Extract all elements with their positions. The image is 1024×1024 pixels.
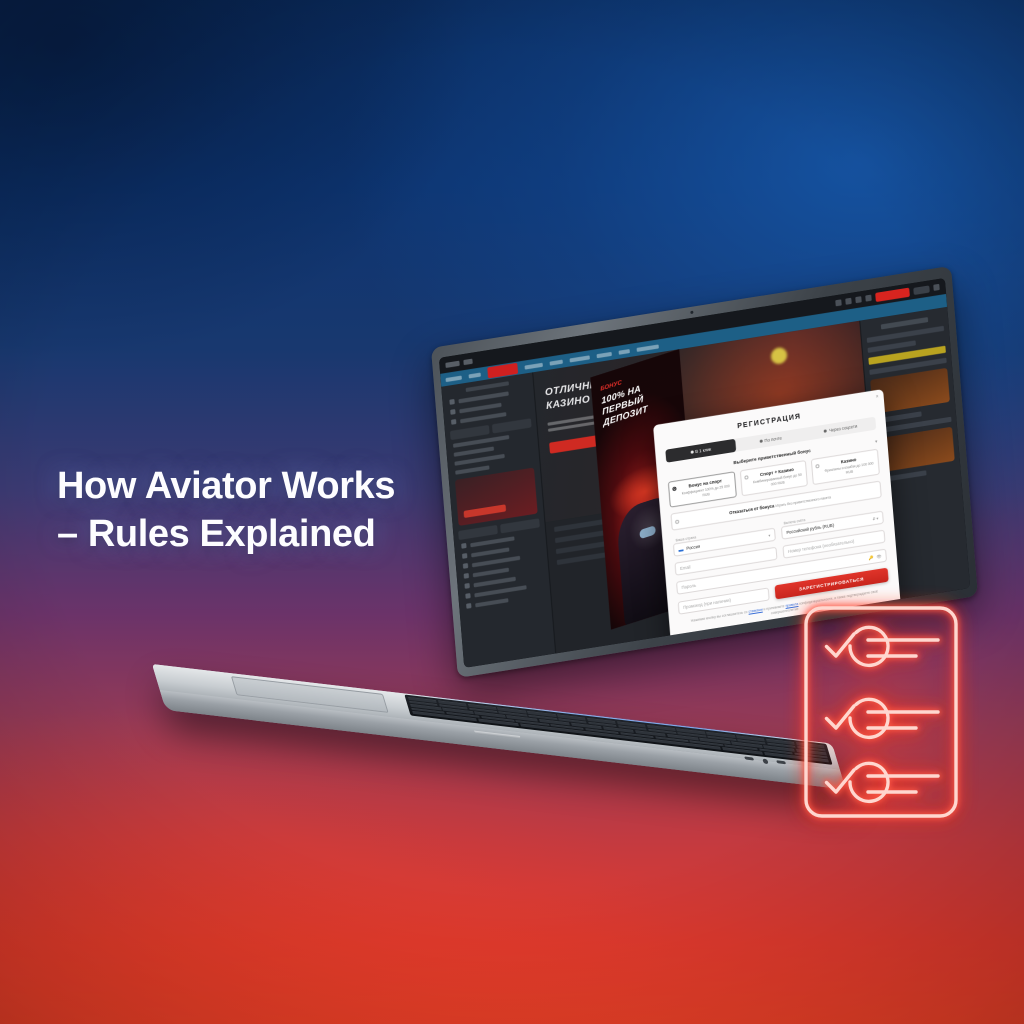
sport-icon	[449, 399, 454, 405]
promo-title: 100% НА ПЕРВЫЙ ДЕПОЗИТ	[601, 372, 677, 428]
nav-item-promos[interactable]	[570, 355, 590, 362]
bonus-option-body: Казино Фриспины и кэшбэк до 100 000 RUB	[823, 454, 876, 478]
chevron-down-icon[interactable]: ▾	[768, 533, 770, 538]
sidebar-item-label	[459, 402, 501, 413]
social-icon	[824, 429, 827, 432]
bonus-option-sport-casino[interactable]: Спорт + Казино Комбинированный бонус до …	[739, 460, 808, 497]
sidebar-section-top	[446, 378, 532, 425]
generate-key-icon[interactable]: 🔑	[868, 555, 873, 561]
hockey-icon	[464, 573, 469, 579]
nav-item-more[interactable]	[619, 349, 630, 355]
eye-icon[interactable]: 👁	[876, 554, 881, 560]
tab-label: В 1 клик	[695, 447, 711, 455]
neon-core-stroke	[806, 608, 956, 816]
tennis-icon	[462, 553, 467, 559]
laptop-base	[152, 664, 846, 790]
search-icon[interactable]	[835, 299, 841, 306]
esports-icon	[465, 593, 470, 599]
nav-item-cyber[interactable]	[550, 359, 563, 365]
sidebar-item-label	[460, 412, 506, 423]
flag-icon	[678, 547, 683, 552]
terms-link[interactable]: ставками	[748, 608, 762, 614]
decline-desc: Играть без приветственного пакета	[775, 496, 831, 509]
boxing-icon	[466, 603, 471, 609]
sidebar-item-label	[455, 465, 489, 474]
sidebar-item-label	[454, 446, 494, 456]
nav-item-casino[interactable]	[525, 362, 543, 369]
hero-glow	[770, 347, 787, 366]
sidebar-item-label	[473, 576, 515, 587]
sidebar-promo-card[interactable]	[455, 467, 538, 525]
radio-icon[interactable]	[672, 487, 676, 492]
nav-item-live[interactable]	[469, 372, 481, 378]
chevron-down-icon[interactable]: ▾	[875, 439, 877, 444]
legal-text-1: Нажимая кнопку вы соглашаетесь со	[691, 610, 749, 623]
help-icon[interactable]	[865, 295, 871, 302]
currency-value: Российский рубль (RUB)	[786, 523, 834, 536]
user-icon[interactable]	[933, 284, 939, 291]
bonus-option-body: Бонус на спорт Коэффициент 100% до 25 00…	[679, 477, 732, 501]
sidebar-item-label	[470, 536, 514, 547]
currency-chevron[interactable]: ₽ ▾	[873, 516, 879, 522]
usb-c-port-icon	[744, 756, 754, 760]
nav-item-bonuses[interactable]	[637, 344, 659, 351]
radio-icon[interactable]	[744, 475, 748, 480]
headphone-jack-icon	[762, 759, 769, 765]
close-icon[interactable]: ×	[875, 394, 878, 400]
password-placeholder: Пароль	[681, 583, 696, 590]
tab-one-click[interactable]: В 1 клик	[665, 439, 736, 463]
tab-by-email[interactable]: По почте	[735, 428, 806, 452]
poster-canvas: How Aviator Works – Rules Explained	[0, 0, 1024, 1024]
radio-icon[interactable]	[675, 520, 679, 525]
tab-label: По почте	[764, 435, 782, 443]
login-prompt-text: Уже зарегистрированы?	[758, 620, 802, 631]
usb-c-port-icon	[776, 760, 786, 764]
radio-icon[interactable]	[816, 464, 820, 469]
password-actions[interactable]: 🔑 👁	[868, 554, 881, 561]
topbar-label	[463, 358, 472, 364]
globe-icon[interactable]	[855, 296, 861, 303]
bonus-option-sport[interactable]: Бонус на спорт Коэффициент 100% до 25 00…	[668, 471, 737, 508]
tab-label: Через соцсети	[829, 423, 858, 432]
bell-icon[interactable]	[845, 298, 851, 305]
promocode-placeholder: Промокод (при наличии)	[683, 597, 731, 610]
sidebar-item-label	[473, 567, 509, 577]
tab-social[interactable]: Через соцсети	[805, 417, 876, 441]
betslip-title	[881, 317, 928, 329]
bonus-option-casino[interactable]: Казино Фриспины и кэшбэк до 100 000 RUB	[811, 449, 880, 486]
sidebar-item-label	[471, 547, 509, 557]
football-icon	[461, 543, 466, 549]
site-logo[interactable]	[445, 360, 459, 367]
nav-item-sport[interactable]	[446, 375, 462, 382]
betslip-row	[867, 326, 944, 343]
nav-item-games[interactable]	[597, 351, 612, 357]
register-button[interactable]	[913, 285, 930, 295]
country-value: Россия	[686, 544, 700, 551]
email-placeholder: Email	[680, 565, 691, 572]
mail-icon	[759, 439, 762, 442]
checklist-icon	[798, 600, 964, 824]
phone-placeholder: Номер телефона (необязательно)	[788, 539, 855, 554]
trophy-icon	[451, 419, 456, 425]
webcam-icon	[690, 311, 693, 314]
login-button[interactable]	[875, 287, 910, 301]
sidebar-item-label	[475, 598, 508, 607]
volleyball-icon	[464, 583, 469, 589]
bonus-option-body: Спорт + Казино Комбинированный бонус до …	[751, 466, 804, 490]
basketball-icon	[463, 563, 468, 569]
decline-title: Отказаться от бонуса	[729, 504, 774, 516]
bolt-icon	[690, 450, 693, 453]
live-icon	[450, 409, 455, 415]
